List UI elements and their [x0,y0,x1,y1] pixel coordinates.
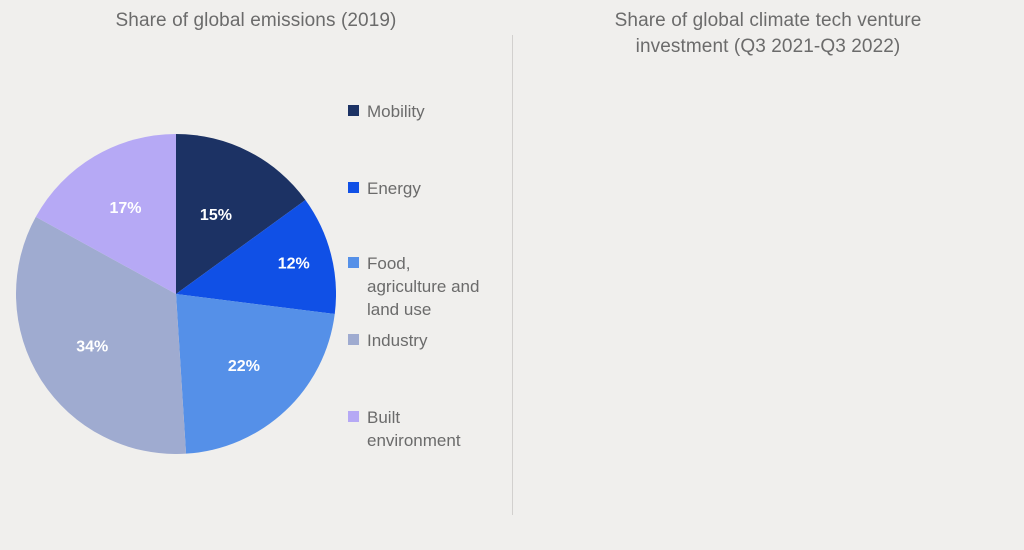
slice-percentage-label: 22% [228,358,260,375]
pie-chart-emissions: 15%12%22%34%17% [16,134,336,454]
legend-item[interactable]: Industry [348,329,508,352]
legend-swatch-icon [348,411,359,422]
legend-item-label: Builtenvironment [367,406,461,452]
slice-percentage-label: 34% [76,339,108,356]
slice-percentage-label: 17% [109,200,141,217]
legend-item[interactable]: Food,agriculture andland use [348,252,508,321]
legend-item-label: Industry [367,329,427,352]
legend-item-label: Mobility [367,100,425,123]
page-title: Share of global emissions (2019) [0,8,512,34]
legend-swatch-icon [348,257,359,268]
legend-item-label: Food,agriculture andland use [367,252,479,321]
legend-item[interactable]: Energy [348,177,508,200]
legend-item[interactable]: Mobility [348,100,508,123]
slice-percentage-label: 15% [200,207,232,224]
legend-item-label: Energy [367,177,421,200]
emissions-chart-panel: Share of global emissions (2019) 15%12%2… [0,0,512,550]
legend-swatch-icon [348,182,359,193]
page-title-secondary: Share of global climate tech venture inv… [512,8,1024,60]
pie-svg-emissions: 15%12%22%34%17% [16,134,336,454]
slice-percentage-label: 12% [278,255,310,272]
legend-swatch-icon [348,105,359,116]
legend-item[interactable]: Builtenvironment [348,406,508,452]
legend-swatch-icon [348,334,359,345]
investment-chart-panel: Share of global climate tech venture inv… [512,0,1024,550]
